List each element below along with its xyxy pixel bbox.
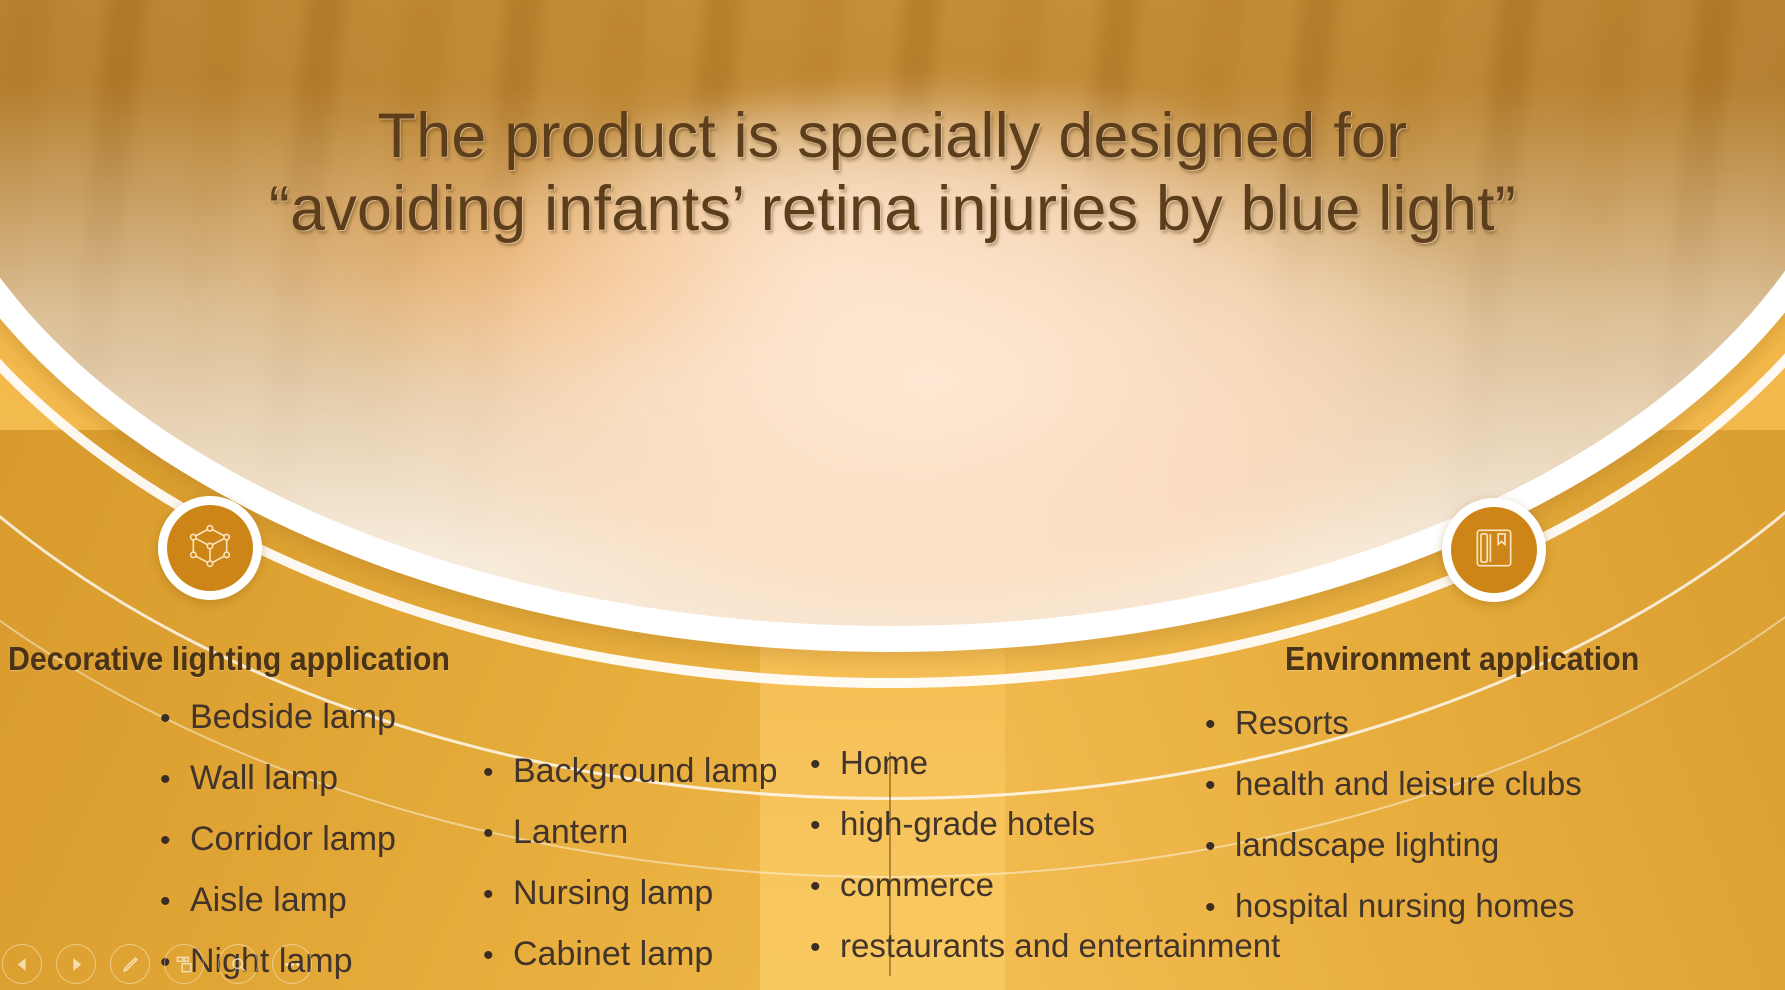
bullet-glyph: • <box>160 765 190 795</box>
list-decorative-col-2: •Background lamp•Lantern•Nursing lamp•Ca… <box>483 754 778 990</box>
list-item: •health and leisure clubs <box>1205 767 1582 801</box>
section-heading-environment: Environment application <box>1285 640 1639 678</box>
bullet-glyph: • <box>810 933 840 963</box>
list-item-label: commerce <box>840 868 994 901</box>
pen-tool-button[interactable] <box>110 944 150 984</box>
bullet-glyph: • <box>810 872 840 902</box>
list-item-label: Home <box>840 746 928 779</box>
slide-overview-button[interactable] <box>164 944 204 984</box>
list-environment-col-2: •Resorts•health and leisure clubs•landsc… <box>1205 706 1582 950</box>
list-item: •Wall lamp <box>160 761 396 795</box>
bullet-glyph: • <box>483 941 513 971</box>
bullet-glyph: • <box>1205 893 1235 923</box>
bullet-glyph: • <box>1205 710 1235 740</box>
section-heading-decorative: Decorative lighting application <box>8 640 450 678</box>
list-item-label: landscape lighting <box>1235 828 1499 861</box>
decorative-section-badge <box>158 496 262 600</box>
list-item: •Aisle lamp <box>160 883 396 917</box>
list-item-label: Corridor lamp <box>190 822 396 856</box>
bullet-glyph: • <box>483 758 513 788</box>
list-item-label: health and leisure clubs <box>1235 767 1582 800</box>
more-options-button[interactable] <box>272 944 312 984</box>
bullet-glyph: • <box>160 887 190 917</box>
list-item: •landscape lighting <box>1205 828 1582 862</box>
list-item-label: Lantern <box>513 815 628 849</box>
triangle-right-icon <box>67 955 86 974</box>
list-item-label: high-grade hotels <box>840 807 1095 840</box>
bullet-glyph: • <box>1205 771 1235 801</box>
bullet-glyph: • <box>483 880 513 910</box>
zoom-tool-button[interactable] <box>218 944 258 984</box>
bullet-glyph: • <box>160 704 190 734</box>
list-item-label: hospital nursing homes <box>1235 889 1574 922</box>
environment-section-badge <box>1442 498 1546 602</box>
list-item: •Bedside lamp <box>160 700 396 734</box>
next-slide-button[interactable] <box>56 944 96 984</box>
ellipsis-icon <box>283 955 302 974</box>
list-item: •Cabinet lamp <box>483 937 778 971</box>
triangle-left-icon <box>13 955 32 974</box>
bullet-glyph: • <box>1205 832 1235 862</box>
list-item: •Corridor lamp <box>160 822 396 856</box>
bullet-glyph: • <box>483 819 513 849</box>
list-item: •Background lamp <box>483 754 778 788</box>
bullet-glyph: • <box>810 750 840 780</box>
presentation-slide: The product is specially designed for “a… <box>0 0 1785 990</box>
grid-slides-icon <box>175 955 194 974</box>
list-item: •Lantern <box>483 815 778 849</box>
list-item-label: Resorts <box>1235 706 1349 739</box>
magnifier-icon <box>229 955 248 974</box>
list-item-label: Background lamp <box>513 754 778 788</box>
book-bookmark-icon <box>1469 523 1519 578</box>
slideshow-controls <box>2 944 312 984</box>
bullet-glyph: • <box>810 811 840 841</box>
list-item: •Resorts <box>1205 706 1582 740</box>
list-item-label: Wall lamp <box>190 761 338 795</box>
previous-slide-button[interactable] <box>2 944 42 984</box>
list-item: •Nursing lamp <box>483 876 778 910</box>
list-item-label: Bedside lamp <box>190 700 396 734</box>
bullet-glyph: • <box>160 826 190 856</box>
list-item-label: Aisle lamp <box>190 883 347 917</box>
pen-icon <box>121 955 140 974</box>
cube-wireframe-icon <box>185 521 235 576</box>
list-item-label: Nursing lamp <box>513 876 713 910</box>
list-item-label: Cabinet lamp <box>513 937 713 971</box>
list-item: •hospital nursing homes <box>1205 889 1582 923</box>
